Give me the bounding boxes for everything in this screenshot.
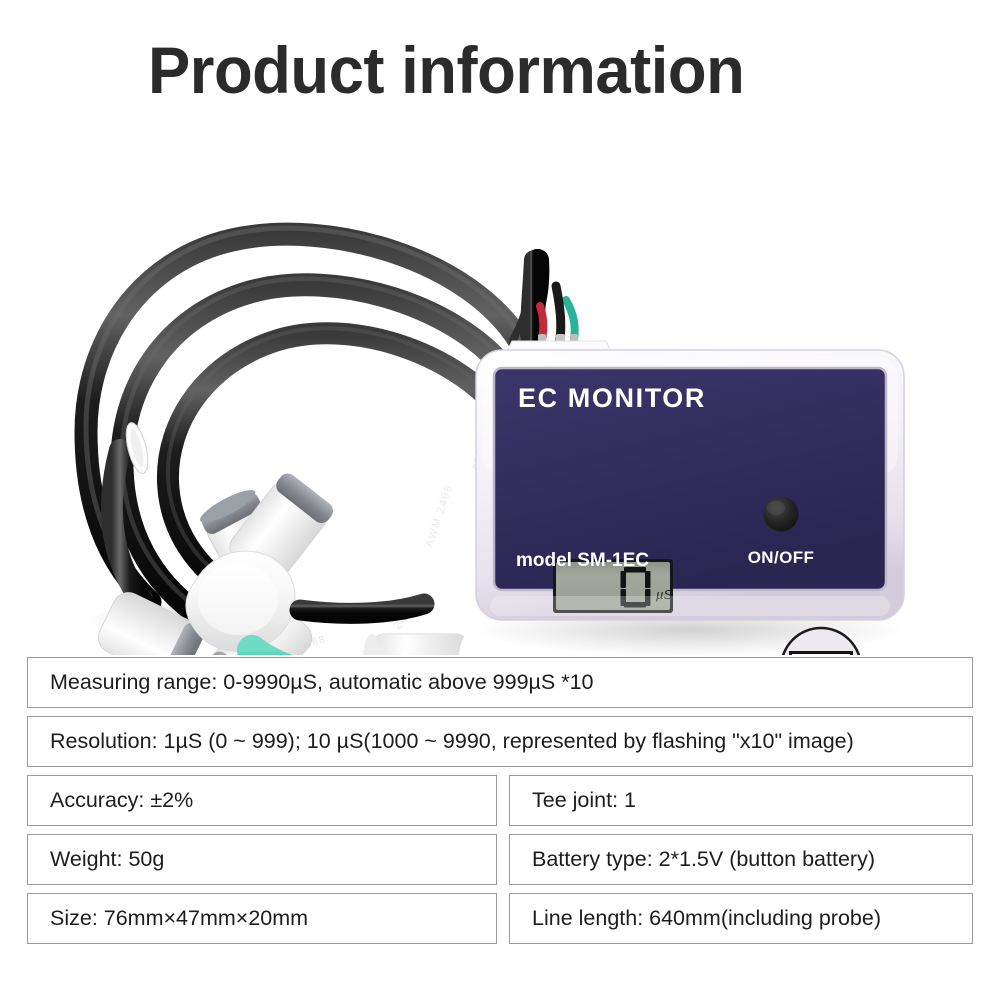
spec-tee-joint: Tee joint: 1 — [509, 775, 973, 826]
spec-weight: Weight: 50g — [27, 834, 497, 885]
product-photo: AWM 2468 24 AWG 2468 80C — [0, 110, 1000, 655]
power-button-label: ON/OFF — [748, 548, 815, 567]
table-row: Accuracy: ±2% Tee joint: 1 — [27, 775, 973, 826]
table-row: Resolution: 1µS (0 ~ 999); 10 µS(1000 ~ … — [27, 716, 973, 767]
svg-text:AWM 2468: AWM 2468 — [423, 482, 455, 548]
table-row: Size: 76mm×47mm×20mm Line length: 640mm(… — [27, 893, 973, 944]
cable-coil: AWM 2468 24 AWG 2468 80C — [86, 228, 538, 653]
spec-measuring-range: Measuring range: 0-9990µS, automatic abo… — [27, 657, 973, 708]
product-information-page: Product information — [0, 0, 1000, 1000]
table-row: Measuring range: 0-9990µS, automatic abo… — [27, 657, 973, 708]
table-row: Weight: 50g Battery type: 2*1.5V (button… — [27, 834, 973, 885]
power-button-cap — [764, 497, 799, 532]
spec-size: Size: 76mm×47mm×20mm — [27, 893, 497, 944]
specification-table: Measuring range: 0-9990µS, automatic abo… — [27, 657, 973, 977]
meter-wire-entry — [506, 260, 612, 353]
spec-battery-type: Battery type: 2*1.5V (button battery) — [509, 834, 973, 885]
ec-monitor-device: EC MONITOR ON/OFF — [475, 350, 905, 655]
spec-resolution: Resolution: 1µS (0 ~ 999); 10 µS(1000 ~ … — [27, 716, 973, 767]
device-title-text: EC MONITOR — [518, 383, 706, 413]
spec-line-length: Line length: 640mm(including probe) — [509, 893, 973, 944]
spec-accuracy: Accuracy: ±2% — [27, 775, 497, 826]
device-model-text: model SM-1EC — [516, 550, 649, 571]
page-title: Product information — [148, 30, 878, 110]
svg-text:HM: HM — [808, 653, 834, 655]
